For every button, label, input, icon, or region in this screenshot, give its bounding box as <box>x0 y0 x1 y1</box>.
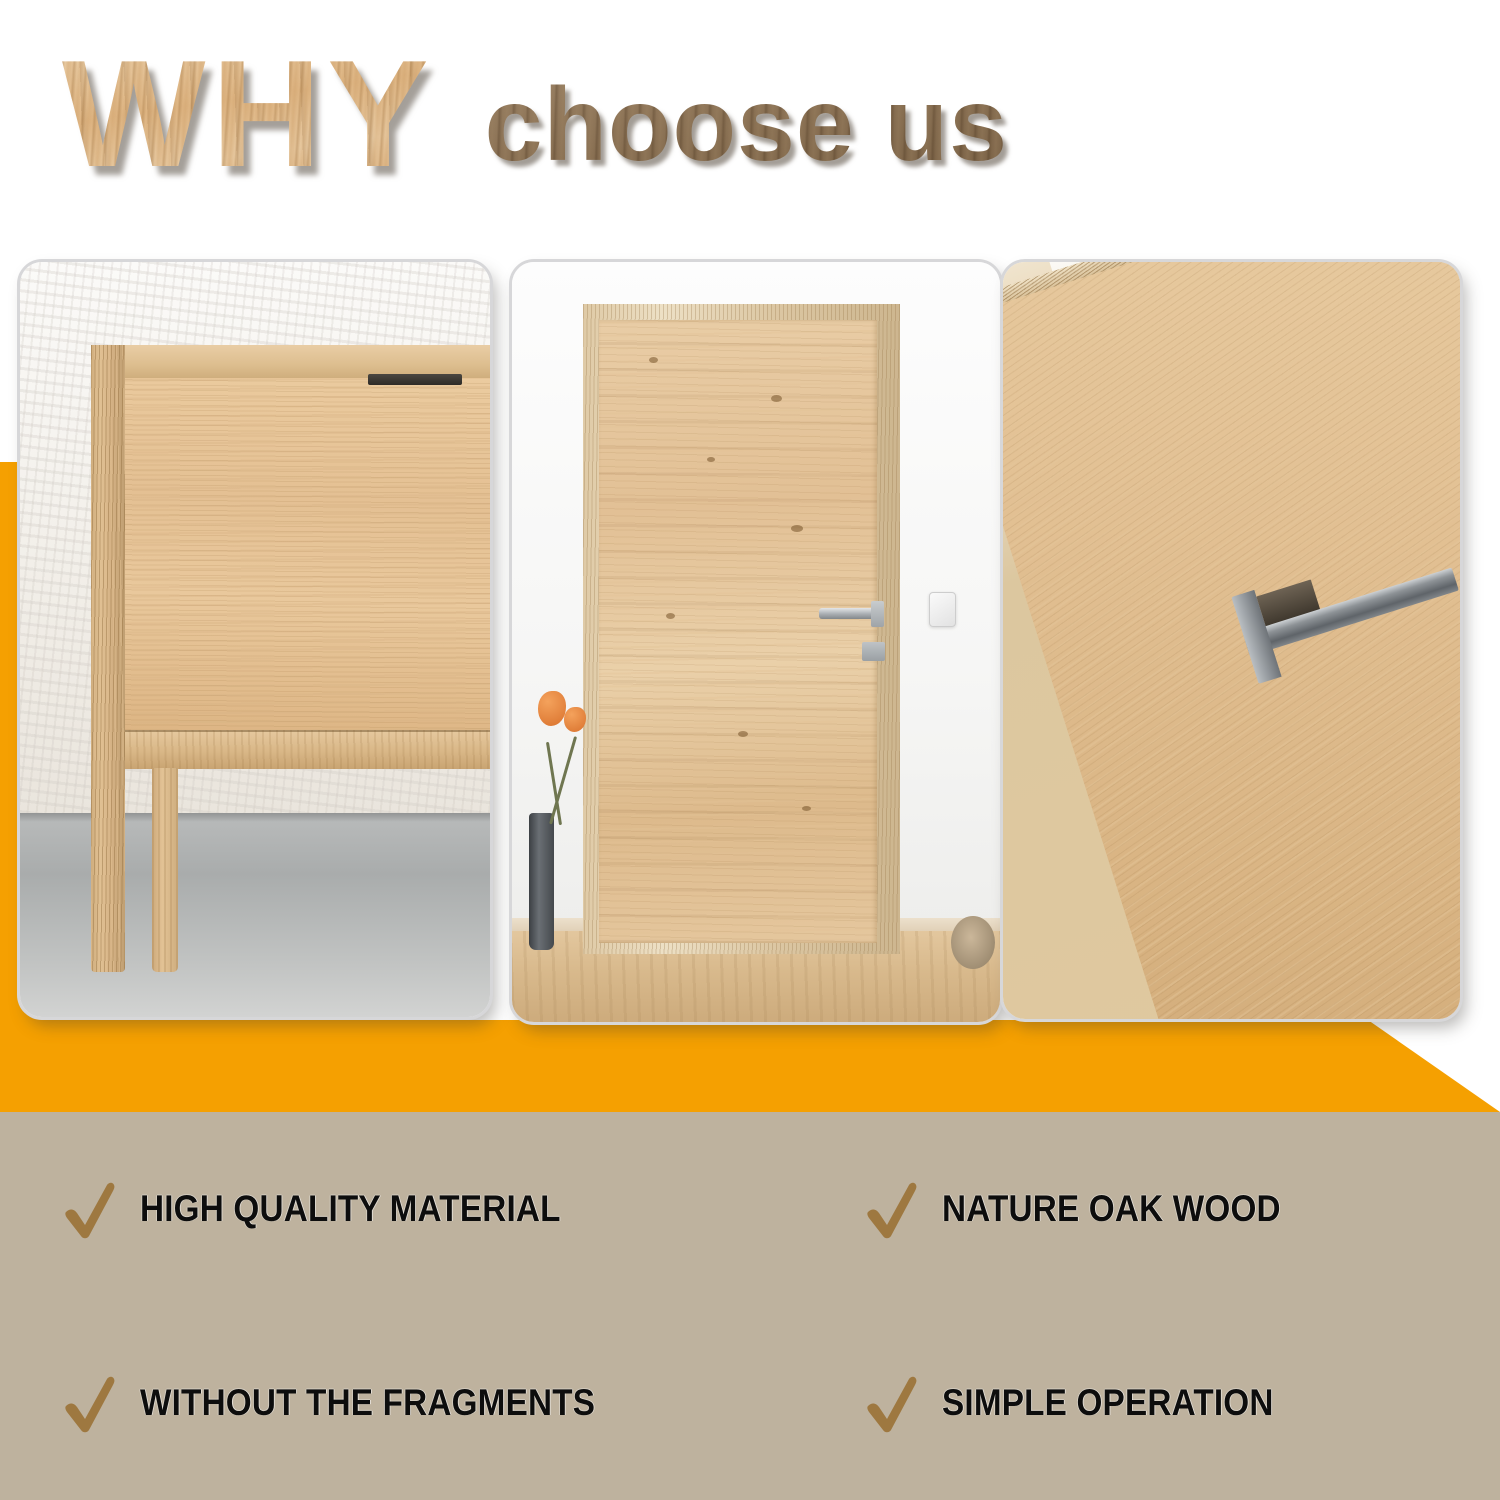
door-lock-escutcheon <box>862 642 884 661</box>
feature-item-simple-operation: SIMPLE OPERATION <box>822 1306 1500 1500</box>
cabinet-corner-post <box>91 345 125 972</box>
feature-item-high-quality-material: HIGH QUALITY MATERIAL <box>0 1112 822 1306</box>
infographic-canvas: WHY choose us <box>0 0 1500 1500</box>
wood-log-stool <box>951 916 995 969</box>
feature-item-nature-oak-wood: NATURE OAK WOOD <box>822 1112 1500 1306</box>
oak-door-leaf <box>599 320 877 943</box>
cabinet-handle <box>368 374 462 385</box>
feature-label: HIGH QUALITY MATERIAL <box>140 1188 561 1230</box>
check-icon <box>62 1178 120 1240</box>
orange-accent-band <box>0 1020 1500 1112</box>
wood-knot-icon <box>666 613 675 619</box>
feature-label: SIMPLE OPERATION <box>942 1382 1274 1424</box>
check-icon <box>864 1178 922 1240</box>
wood-knot-icon <box>707 457 715 462</box>
oak-sideboard-cabinet-photo <box>20 262 490 1017</box>
gallery-photo-card-3 <box>1003 262 1460 1019</box>
cabinet-door-panel <box>107 379 490 730</box>
wood-knot-icon <box>649 357 658 363</box>
feature-label: WITHOUT THE FRAGMENTS <box>140 1382 595 1424</box>
wood-knot-icon <box>738 731 748 737</box>
cabinet-leg <box>152 768 178 972</box>
feature-label: NATURE OAK WOOD <box>942 1188 1281 1230</box>
feature-list: HIGH QUALITY MATERIAL NATURE OAK WOOD WI… <box>0 1112 1500 1500</box>
headline-word-why: WHY <box>62 38 435 190</box>
floor-vase <box>529 813 554 950</box>
check-icon <box>864 1372 922 1434</box>
cabinet-bottom-rail <box>95 730 490 769</box>
wood-knot-icon <box>802 806 811 811</box>
check-icon <box>62 1372 120 1434</box>
wood-knot-icon <box>791 525 803 532</box>
oak-interior-door-photo <box>512 262 1000 1022</box>
feature-item-without-the-fragments: WITHOUT THE FRAGMENTS <box>0 1306 822 1500</box>
light-switch <box>929 592 955 627</box>
wood-knot-icon <box>771 395 782 402</box>
oak-panel-edge-handle-photo <box>1003 262 1460 1019</box>
headline-word-choose-us: choose us <box>485 73 1008 177</box>
door-handle-rosette <box>871 601 884 627</box>
gallery-photo-card-2 <box>512 262 1000 1022</box>
page-title: WHY choose us <box>62 38 1162 218</box>
gallery-photo-card-1 <box>20 262 490 1017</box>
